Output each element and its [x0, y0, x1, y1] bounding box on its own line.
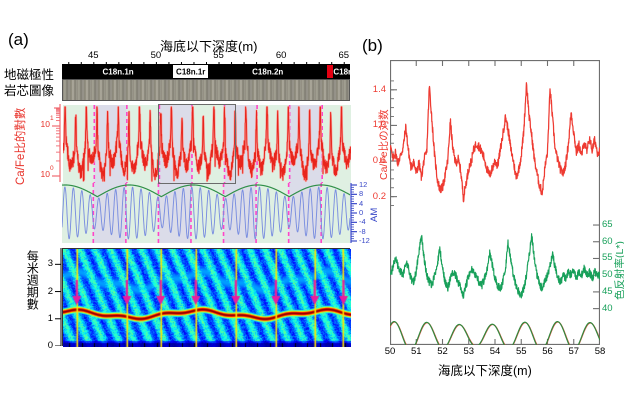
label-am: AM	[369, 208, 380, 222]
core-image-strip	[62, 79, 350, 101]
tick-label: 50	[151, 50, 162, 61]
chron-label: C18n.2n	[252, 67, 283, 76]
tick-label: 58	[595, 346, 606, 357]
panel-a-top-tick-labels: 4550556065	[62, 50, 350, 62]
panel-b-x-tick-labels: 505152535455565758	[390, 346, 600, 358]
tick-label: 0	[48, 340, 53, 351]
tick-label: 51	[411, 346, 422, 357]
am-series-plot	[62, 183, 350, 243]
tick-label: 0.2	[373, 191, 386, 202]
tick-label: 3	[48, 258, 53, 269]
tick-label: 1.0	[373, 119, 386, 130]
chron-label: C18n.1n	[103, 67, 134, 76]
tick-label: 60	[602, 236, 613, 247]
chron-label: C18n.1r	[176, 67, 205, 76]
tick-label: 2	[48, 286, 53, 297]
tick-label: 55	[516, 346, 527, 357]
panel-b-axis-title: 海底以下深度(m)	[438, 360, 532, 379]
tick-label: -12	[359, 236, 370, 245]
tick-label: 45	[602, 286, 613, 297]
label-b-reflectance: 色反射率(L*)	[612, 241, 624, 300]
tick-label: 12	[359, 180, 367, 189]
label-core-image: 岩芯圖像	[4, 80, 54, 99]
tick-label: 53	[463, 346, 474, 357]
tick-label: 55	[602, 252, 613, 263]
tick-label: 50	[385, 346, 396, 357]
chron-label: C18r	[333, 67, 351, 76]
tick-label: 4	[359, 199, 363, 208]
highlight-box	[158, 104, 236, 184]
polarity-bar: C18n.1nC18n.1rC18n.2nC18r	[62, 64, 350, 79]
label-cycles-per-meter: 每米週期數	[26, 250, 38, 310]
tick-label: 55	[213, 50, 224, 61]
tick-label: 60	[276, 50, 287, 61]
tick-label: 0	[359, 208, 363, 217]
tick-label: 0.6	[373, 155, 386, 166]
spectrogram-y-axis: 0123	[44, 248, 62, 346]
tick-label: 40	[602, 303, 613, 314]
spectrogram-plot	[62, 248, 350, 346]
panel-a-letter: (a)	[8, 30, 29, 50]
tick-label: 54	[490, 346, 501, 357]
tick-label: 8	[359, 189, 363, 198]
tick-exponent: 1	[50, 115, 54, 122]
tick-label: 65	[338, 50, 349, 61]
tick-label: -4	[359, 217, 366, 226]
tick-label: 45	[88, 50, 99, 61]
cafe-log-axis: 101100	[38, 104, 62, 182]
tick-exponent: 0	[50, 165, 54, 172]
tick-label: -8	[359, 227, 366, 236]
spectrogram-canvas	[63, 249, 351, 347]
tick-label: 57	[568, 346, 579, 357]
tick-label: 50	[602, 269, 613, 280]
label-cafe-log: Ca/Fe比的對數	[12, 108, 28, 185]
tick-label: 65	[602, 219, 613, 230]
panel-b-plot	[390, 60, 600, 345]
tick-label: 10	[41, 119, 50, 129]
tick-label: 52	[437, 346, 448, 357]
tick-label: 10	[41, 169, 50, 179]
panel-b-letter: (b)	[362, 36, 383, 56]
tick-label: 56	[542, 346, 553, 357]
tick-label: 1.4	[373, 84, 386, 95]
tick-label: 1	[48, 313, 53, 324]
